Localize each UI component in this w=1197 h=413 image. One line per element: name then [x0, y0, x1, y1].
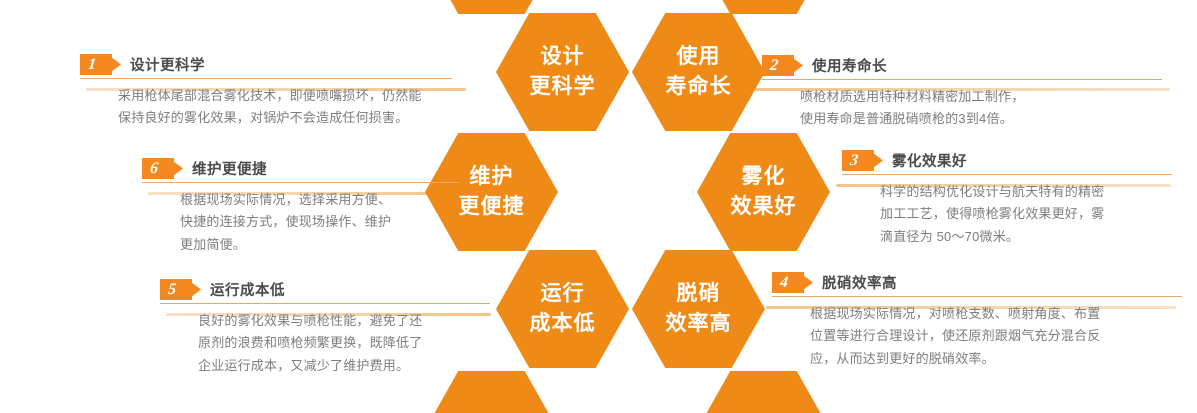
feature-5-head: 5 运行成本低: [160, 279, 490, 300]
hexagon-filler-bottom-right: [697, 371, 830, 413]
number-badge-1-value: 1: [87, 57, 97, 73]
hexagon-cost-line2: 成本低: [530, 309, 596, 339]
infographic-canvas: 设计 更科学 使用 寿命长 维护 更便捷 雾化 效果好 运行 成本低 脱硝 效率…: [0, 0, 1197, 413]
hexagon-maintain-line2: 更便捷: [459, 192, 525, 222]
number-badge-4-value: 4: [779, 275, 789, 291]
hexagon-atomize-line2: 效果好: [731, 192, 797, 222]
hexagon-filler-top-right: [697, 0, 830, 14]
number-badge-2-icon: 2: [762, 55, 803, 76]
hexagon-maintain-line1: 维护: [470, 162, 514, 192]
feature-block-4: 4 脱硝效率高 根据现场实际情况，对喷枪支数、喷射角度、布置 位置等进行合理设计…: [772, 272, 1182, 370]
feature-5-body: 良好的雾化效果与喷枪性能，避免了还 原剂的浪费和喷枪频繁更换，既降低了 企业运行…: [160, 310, 490, 377]
feature-block-1: 1 设计更科学 采用枪体尾部混合雾化技术，即便喷嘴损坏，仍然能 保持良好的雾化效…: [80, 54, 452, 130]
feature-4-head: 4 脱硝效率高: [772, 272, 1182, 293]
feature-2-divider: [762, 79, 1162, 80]
hexagon-atomize-line1: 雾化: [742, 162, 786, 192]
hexagon-design-line1: 设计: [541, 42, 585, 72]
feature-2-body: 喷枪材质选用特种材料精密加工制作， 使用寿命是普通脱硝喷枪的3到4倍。: [762, 86, 1162, 131]
number-badge-2-value: 2: [769, 58, 779, 74]
number-badge-1-icon: 1: [80, 54, 121, 75]
feature-6-body: 根据现场实际情况，选择采用方便、 快捷的连接方式，使现场操作、维护 更加简便。: [142, 189, 460, 256]
feature-4-divider: [772, 296, 1182, 297]
feature-1-title: 设计更科学: [130, 54, 205, 75]
feature-3-body: 科学的结构优化设计与航天特有的精密 加工工艺，使得喷枪雾化效果更好，雾 滴直径为…: [842, 181, 1172, 248]
feature-4-body: 根据现场实际情况，对喷枪支数、喷射角度、布置 位置等进行合理设计，使还原剂跟烟气…: [772, 303, 1182, 370]
number-badge-4-icon: 4: [772, 272, 813, 293]
hexagon-lifespan-line2: 寿命长: [666, 72, 732, 102]
hexagon-filler-bottom-left: [425, 371, 558, 413]
feature-block-3: 3 雾化效果好 科学的结构优化设计与航天特有的精密 加工工艺，使得喷枪雾化效果更…: [842, 150, 1172, 248]
feature-6-head: 6 维护更便捷: [142, 158, 460, 179]
hexagon-design[interactable]: 设计 更科学: [496, 13, 629, 131]
feature-1-body: 采用枪体尾部混合雾化技术，即便喷嘴损坏，仍然能 保持良好的雾化效果，对锅炉不会造…: [80, 85, 452, 130]
number-badge-3-icon: 3: [842, 150, 883, 171]
number-badge-6-value: 6: [149, 161, 159, 177]
hexagon-denitrify-line2: 效率高: [666, 309, 732, 339]
feature-3-divider: [842, 174, 1172, 175]
hexagon-design-line2: 更科学: [530, 72, 596, 102]
hexagon-atomize[interactable]: 雾化 效果好: [697, 133, 830, 251]
number-badge-3-value: 3: [849, 153, 859, 169]
hexagon-denitrify[interactable]: 脱硝 效率高: [632, 250, 765, 368]
feature-6-title: 维护更便捷: [192, 158, 267, 179]
feature-4-title: 脱硝效率高: [822, 272, 897, 293]
hexagon-lifespan[interactable]: 使用 寿命长: [632, 13, 765, 131]
number-badge-6-icon: 6: [142, 158, 183, 179]
feature-2-head: 2 使用寿命长: [762, 55, 1162, 76]
feature-5-title: 运行成本低: [210, 279, 285, 300]
feature-6-divider: [142, 182, 460, 183]
hexagon-denitrify-line1: 脱硝: [677, 279, 721, 309]
feature-5-divider: [160, 303, 490, 304]
feature-1-head: 1 设计更科学: [80, 54, 452, 75]
feature-1-divider: [80, 78, 452, 79]
hexagon-lifespan-line1: 使用: [677, 42, 721, 72]
number-badge-5-value: 5: [167, 282, 177, 298]
hexagon-filler-top-left: [425, 0, 558, 14]
feature-block-6: 6 维护更便捷 根据现场实际情况，选择采用方便、 快捷的连接方式，使现场操作、维…: [142, 158, 460, 256]
feature-block-2: 2 使用寿命长 喷枪材质选用特种材料精密加工制作， 使用寿命是普通脱硝喷枪的3到…: [762, 55, 1162, 131]
number-badge-5-icon: 5: [160, 279, 201, 300]
hexagon-cost[interactable]: 运行 成本低: [496, 250, 629, 368]
hexagon-cost-line1: 运行: [541, 279, 585, 309]
feature-block-5: 5 运行成本低 良好的雾化效果与喷枪性能，避免了还 原剂的浪费和喷枪频繁更换，既…: [160, 279, 490, 377]
feature-3-title: 雾化效果好: [892, 150, 967, 171]
feature-3-head: 3 雾化效果好: [842, 150, 1172, 171]
feature-2-title: 使用寿命长: [812, 55, 887, 76]
